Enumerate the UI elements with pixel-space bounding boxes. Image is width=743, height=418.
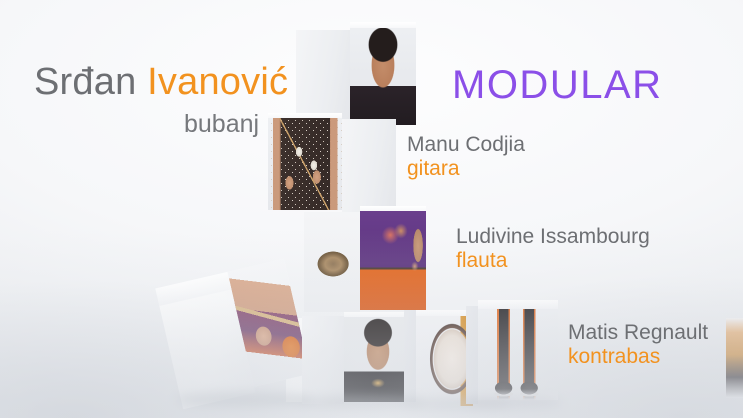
cube-bottom-face-left-face <box>302 316 344 404</box>
member-name: Manu Codjia <box>407 134 525 156</box>
cube-top-top-face <box>350 22 416 28</box>
artist-last-name: Ivanović <box>147 61 288 103</box>
cube-legs-left-face <box>466 306 478 404</box>
member-name: Matis Regnault <box>568 322 708 344</box>
cube-third-right-face <box>360 206 426 310</box>
cube-legs <box>466 300 558 404</box>
cube-shadow <box>176 392 312 408</box>
member-entry: Manu Codjia gitara <box>407 134 525 182</box>
cube-bottom-face <box>302 312 412 404</box>
member-entry: Matis Regnault kontrabas <box>568 322 708 370</box>
poster-canvas: Srđan Ivanović bubanj MODULAR Manu Codji… <box>0 0 743 418</box>
photo-portrait-head-shoulders <box>350 22 416 125</box>
photo-purple-tank-orange-pants <box>360 206 426 310</box>
cube-second-top-face <box>268 113 342 118</box>
cube-third-top-face <box>360 206 426 211</box>
photo-orange-pants-sneakers <box>478 300 558 400</box>
cube-second <box>268 113 396 217</box>
photo-cymbal <box>304 212 360 312</box>
cube-top-right-face <box>350 22 416 125</box>
cube-third-left-face <box>304 212 360 312</box>
cube-second-right-face <box>342 119 396 217</box>
cube-legs-right-face <box>478 300 558 400</box>
cube-bottom-face-right-face <box>344 312 412 402</box>
cube-bottom-face-top-face <box>344 312 412 317</box>
title-space <box>136 61 147 103</box>
member-instrument: gitara <box>407 156 525 182</box>
member-name: Ludivine Issambourg <box>456 226 650 248</box>
cube-third <box>304 206 426 312</box>
artist-instrument-label: bubanj <box>184 110 259 139</box>
cube-second-left-face <box>268 113 342 210</box>
cube-shadow <box>466 396 562 409</box>
photo-torso-mallets <box>268 113 342 210</box>
cube-edge-sliver-face <box>726 318 743 398</box>
cube-legs-top-face <box>478 300 558 309</box>
member-instrument: flauta <box>456 248 650 274</box>
member-instrument: kontrabas <box>568 344 708 370</box>
artist-first-name: Srđan <box>34 61 136 103</box>
page-title: Srđan Ivanović <box>34 61 288 104</box>
cube-snare-left-face <box>404 310 416 402</box>
cube-edge-sliver <box>726 318 743 398</box>
member-entry: Ludivine Issambourg flauta <box>456 226 650 274</box>
photo-portrait-face <box>344 312 412 402</box>
band-title: MODULAR <box>452 63 663 108</box>
